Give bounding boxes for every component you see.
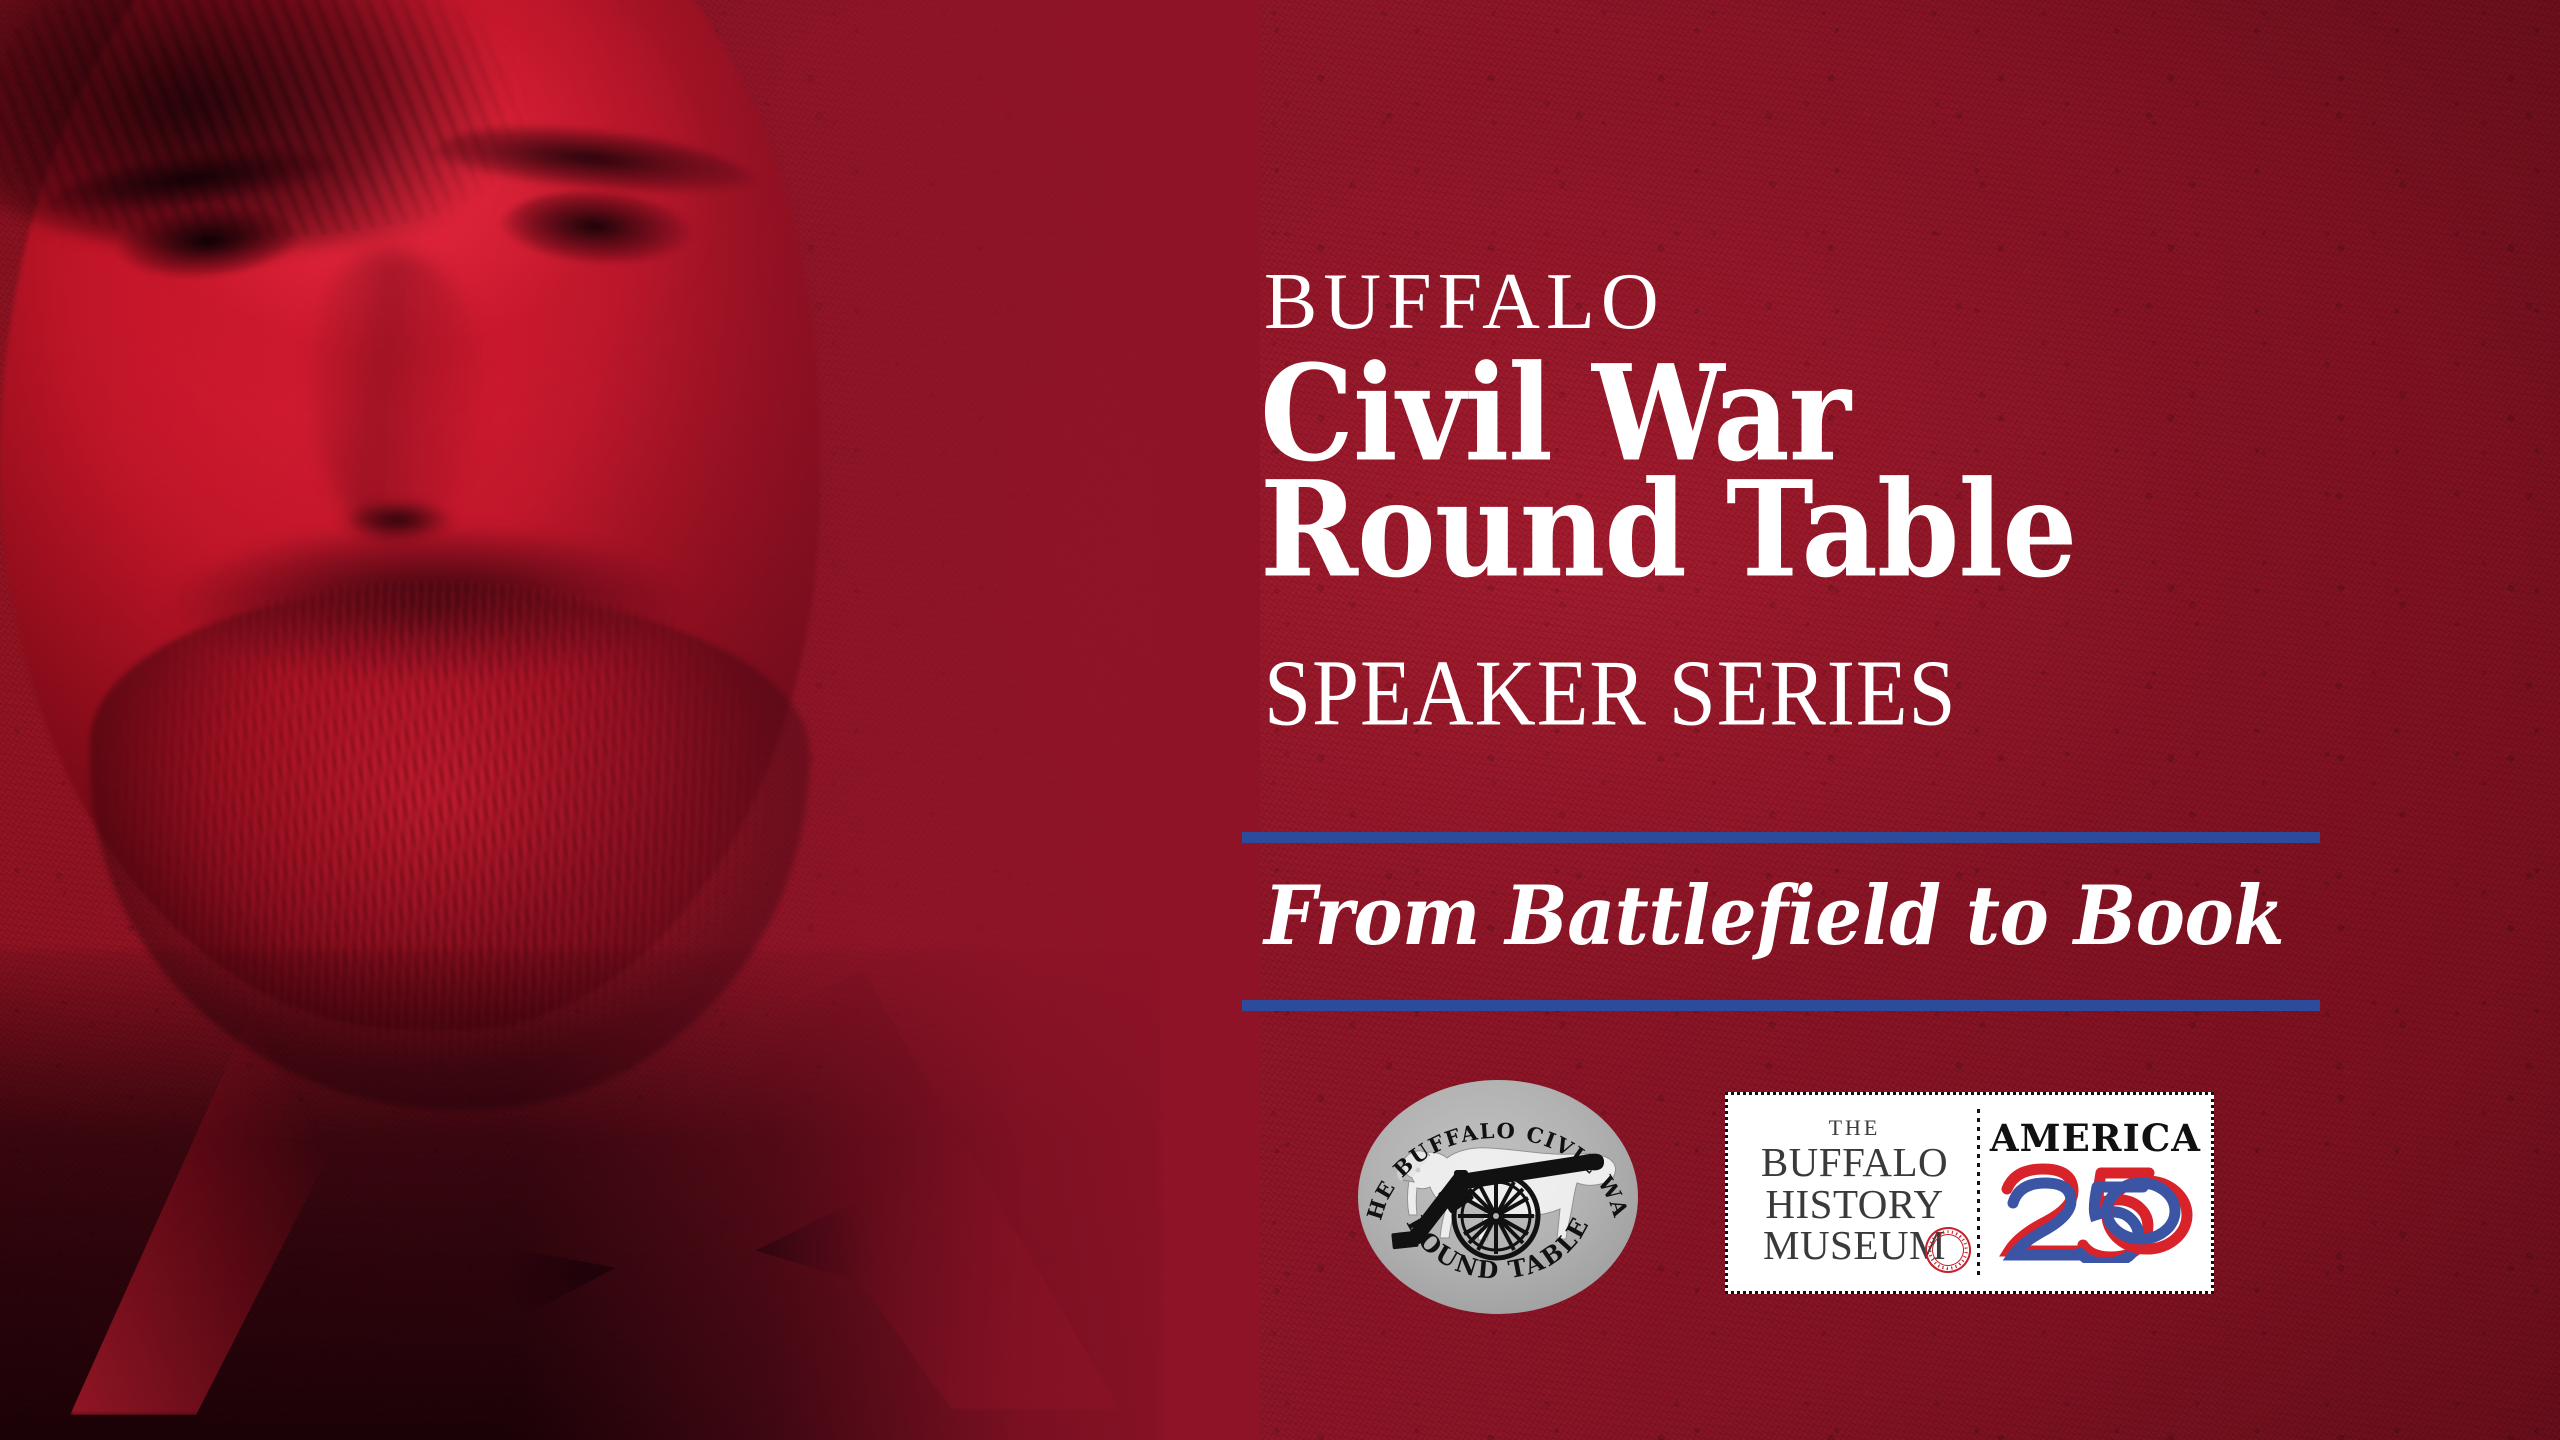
- museum-line-buffalo: BUFFALO: [1761, 1142, 1948, 1184]
- museum-line-museum: MUSEUM: [1763, 1225, 1946, 1267]
- headline-line-2: Round Table: [1260, 468, 2420, 591]
- sponsor-logos: THE BUFFALO CIVIL WAR ROUND TABLE THE BU…: [1358, 1080, 2218, 1320]
- event-poster: BUFFALO Civil War Round Table SPEAKER SE…: [0, 0, 2560, 1440]
- arc-top-label: THE BUFFALO CIVIL WAR: [1358, 1080, 1634, 1223]
- america250-logo: AMERICA: [1980, 1095, 2211, 1291]
- grant-portrait-image: [0, 0, 1260, 1440]
- buffalo-history-museum-logo: THE BUFFALO HISTORY MUSEUM: [1728, 1095, 1977, 1291]
- divider-rule-bottom: [1242, 1000, 2320, 1011]
- arc-bottom-label: ROUND TABLE: [1401, 1211, 1595, 1285]
- buffalo-history-museum-america250-logo-box: THE BUFFALO HISTORY MUSEUM AMERICA: [1725, 1092, 2214, 1294]
- divider-rule-top: [1242, 832, 2320, 843]
- poster-series-label: SPEAKER SERIES: [1264, 646, 1956, 740]
- portrait-right-fade: [520, 0, 1260, 1440]
- poster-headline: Civil War Round Table: [1260, 352, 2420, 577]
- museum-the-label: THE: [1829, 1117, 1881, 1139]
- poster-kicker: BUFFALO: [1264, 262, 1665, 342]
- museum-line-history: HISTORY: [1765, 1184, 1943, 1226]
- poster-subtitle: From Battlefield to Book: [1264, 876, 2284, 957]
- round-table-arc-text: THE BUFFALO CIVIL WAR ROUND TABLE: [1358, 1080, 1638, 1314]
- buffalo-civil-war-round-table-logo: THE BUFFALO CIVIL WAR ROUND TABLE: [1358, 1080, 1638, 1314]
- america250-number-icon: [1997, 1159, 2193, 1263]
- america250-wordmark: AMERICA: [1990, 1120, 2201, 1157]
